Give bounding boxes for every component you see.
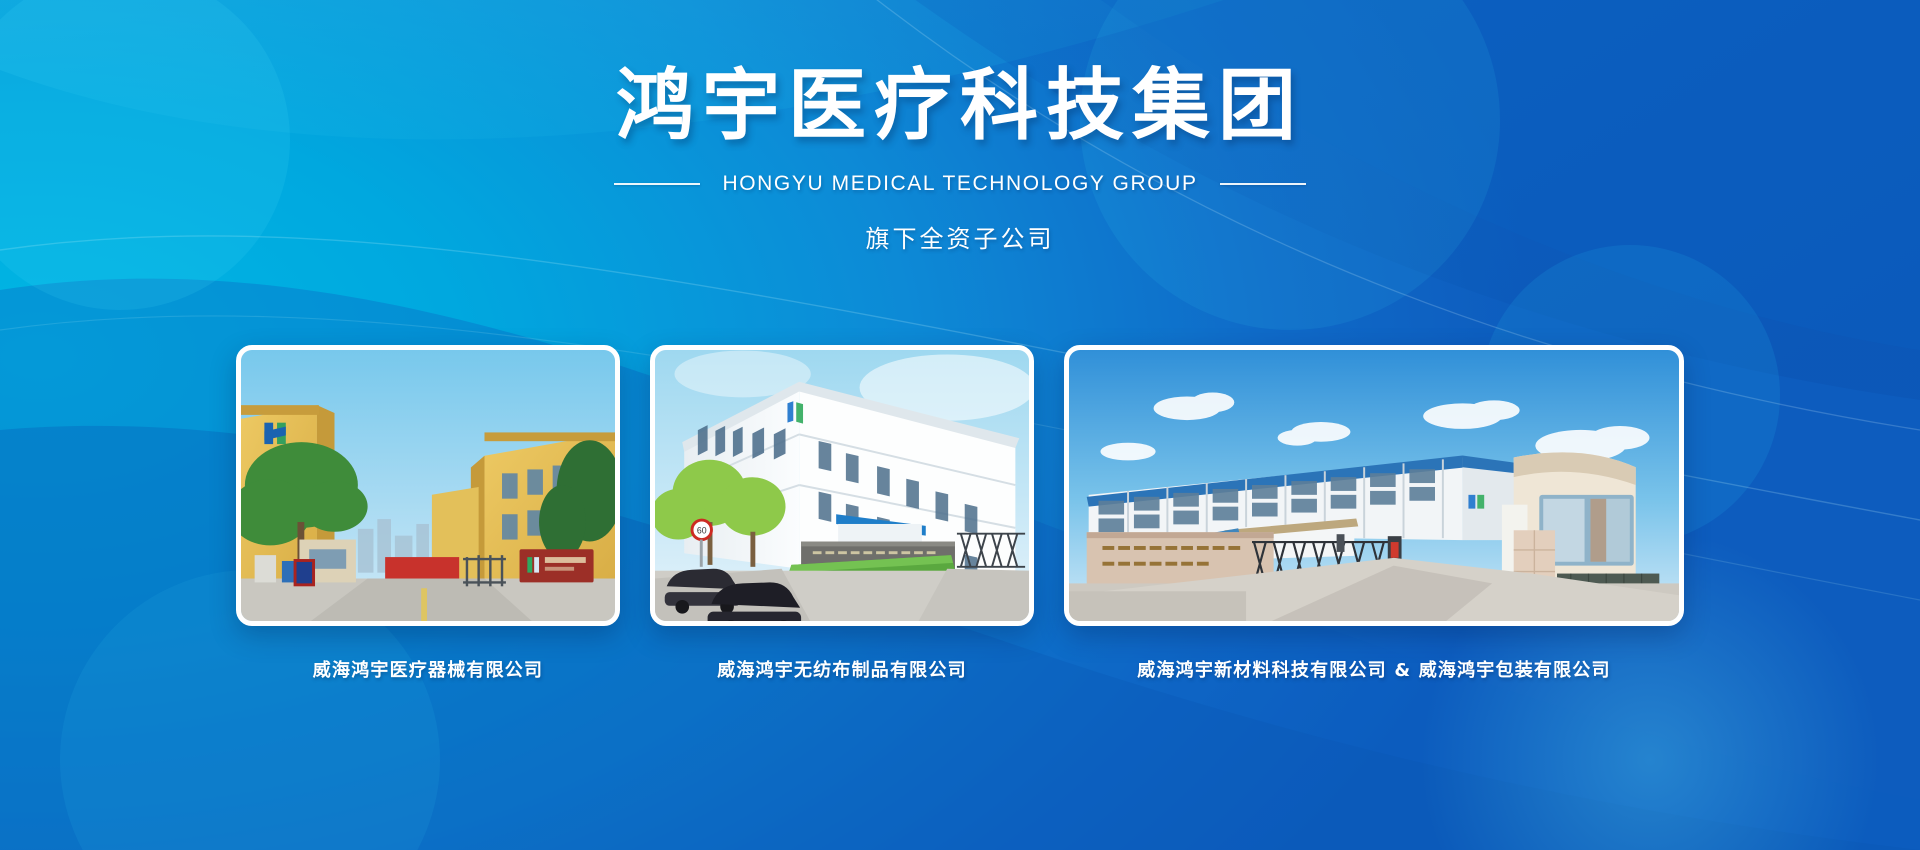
subtitle-row: HONGYU MEDICAL TECHNOLOGY GROUP [614,172,1305,196]
tagline: 旗下全资子公司 [866,219,1055,254]
rule-right-icon [1220,183,1306,185]
card-caption: 威海鸿宇医疗器械有限公司 [313,656,543,682]
subtitle-english: HONGYU MEDICAL TECHNOLOGY GROUP [722,172,1197,196]
svg-text:60: 60 [697,526,707,536]
photo-frame[interactable] [1064,345,1684,626]
page-title: 鸿宇医疗科技集团 [616,64,1304,148]
photo-frame[interactable]: 60 [650,345,1034,626]
photo-frame[interactable] [236,345,620,626]
banner-header: 鸿宇医疗科技集团 HONGYU MEDICAL TECHNOLOGY GROUP… [0,64,1920,254]
card-caption: 威海鸿宇无纺布制品有限公司 [717,656,967,682]
subsidiary-card[interactable]: 威海鸿宇新材料科技有限公司 & 威海鸿宇包装有限公司 [1064,345,1684,682]
subsidiary-card[interactable]: 60 [650,345,1034,682]
building-photo-icon [1069,350,1679,621]
subsidiary-card-list: 威海鸿宇医疗器械有限公司 [0,345,1920,682]
company-banner: 鸿宇医疗科技集团 HONGYU MEDICAL TECHNOLOGY GROUP… [0,0,1920,850]
rule-left-icon [614,183,700,185]
card-caption: 威海鸿宇新材料科技有限公司 & 威海鸿宇包装有限公司 [1137,656,1610,682]
building-photo-icon [241,350,615,621]
building-photo-icon: 60 [655,350,1029,621]
subsidiary-card[interactable]: 威海鸿宇医疗器械有限公司 [236,345,620,682]
